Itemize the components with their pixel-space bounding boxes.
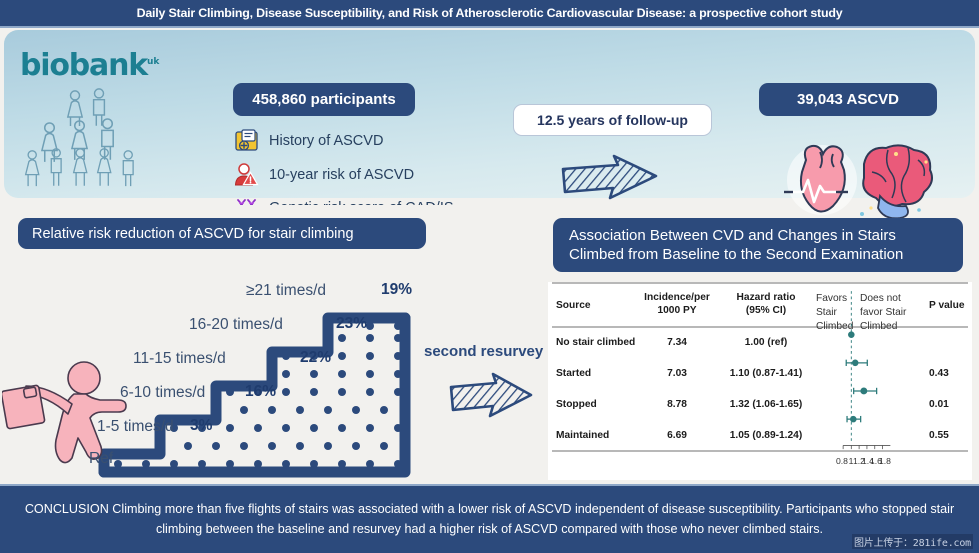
forest-plot-table: Source Incidence/per 1000 PY Hazard rati… xyxy=(548,282,972,480)
col-header-incidence: Incidence/per 1000 PY xyxy=(640,292,714,318)
forest-axis xyxy=(843,445,890,449)
forest-plot xyxy=(834,282,934,460)
watermark: 图片上传于：281ife.com xyxy=(852,534,973,549)
bullet-ten-year-risk: 10-year risk of ASCVD xyxy=(233,161,414,188)
poster-title-bar: Daily Stair Climbing, Disease Susceptibi… xyxy=(0,0,979,28)
cell-hazard: 1.32 (1.06-1.65) xyxy=(724,399,808,410)
cell-incidence: 8.78 xyxy=(640,399,714,410)
infographic-poster: Daily Stair Climbing, Disease Susceptibi… xyxy=(0,0,979,553)
cell-hazard: 1.05 (0.89-1.24) xyxy=(724,430,808,441)
stair-label-ref: Ref xyxy=(89,450,113,468)
stair-label-16-20: 16-20 times/d xyxy=(189,316,283,334)
axis-tick-5: 1.8 xyxy=(877,456,893,466)
cell-pvalue: 0.43 xyxy=(929,368,969,379)
second-resurvey-label: second resurvey xyxy=(424,343,543,360)
page-title: Daily Stair Climbing, Disease Susceptibi… xyxy=(137,6,843,20)
cell-source: Maintained xyxy=(556,430,609,441)
stair-label-11-15: 11-15 times/d xyxy=(133,350,226,368)
folder-plus-icon xyxy=(233,127,260,154)
col-header-source: Source xyxy=(556,300,636,313)
forest-point-no-stair-climbed xyxy=(848,331,855,338)
stair-label-21: ≥21 times/d xyxy=(246,282,326,300)
forest-row-maintained xyxy=(847,416,861,423)
people-crowd-icon xyxy=(18,88,168,188)
cell-source: No stair climbed xyxy=(556,337,635,348)
forest-row-stopped xyxy=(854,388,877,395)
col-header-p-value: P value xyxy=(929,300,969,313)
cohort-overview-panel: biobankuk xyxy=(4,30,975,198)
ascvd-count-badge: 39,043 ASCVD xyxy=(759,83,937,116)
runner-with-briefcase-icon xyxy=(2,360,142,472)
person-warning-icon xyxy=(233,161,260,188)
stair-pct-11-15: 22% xyxy=(300,349,331,367)
stair-label-6-10: 6-10 times/d xyxy=(120,384,205,402)
cell-incidence: 6.69 xyxy=(640,430,714,441)
participants-badge: 458,860 participants xyxy=(233,83,415,116)
arrow-right-icon xyxy=(560,154,660,206)
stair-pct-16-20: 23% xyxy=(336,315,367,333)
bullet-label: 10-year risk of ASCVD xyxy=(269,167,414,183)
cell-hazard: 1.10 (0.87-1.41) xyxy=(724,368,808,379)
bullet-history-of-ascvd: History of ASCVD xyxy=(233,127,383,154)
stair-pct-21: 19% xyxy=(381,281,412,299)
left-panel-heading: Relative risk reduction of ASCVD for sta… xyxy=(18,218,426,249)
stair-pct-6-10: 16% xyxy=(245,383,276,401)
biobank-logo: biobankuk xyxy=(20,48,159,83)
conclusion-banner: CONCLUSION Climbing more than five fligh… xyxy=(0,484,979,553)
cell-hazard: 1.00 (ref) xyxy=(724,337,808,348)
cell-incidence: 7.03 xyxy=(640,368,714,379)
conclusion-text: CONCLUSION Climbing more than five fligh… xyxy=(22,500,957,538)
col-header-hazard-ratio: Hazard ratio (95% CI) xyxy=(724,292,808,318)
stair-label-1-5: 1-5 times/d xyxy=(97,418,174,436)
cell-source: Stopped xyxy=(556,399,597,410)
biobank-logo-sup: uk xyxy=(147,57,159,67)
bullet-label: History of ASCVD xyxy=(269,133,383,149)
cell-pvalue: 0.55 xyxy=(929,430,969,441)
forest-row-started xyxy=(846,360,867,367)
cell-incidence: 7.34 xyxy=(640,337,714,348)
arrow-right-icon-2 xyxy=(448,372,534,424)
heart-and-brain-icon xyxy=(776,134,942,224)
biobank-logo-text: biobank xyxy=(20,48,147,83)
cell-pvalue: 0.01 xyxy=(929,399,969,410)
followup-badge: 12.5 years of follow-up xyxy=(513,104,712,136)
cell-source: Started xyxy=(556,368,591,379)
stair-pct-1-5: 3% xyxy=(190,417,212,435)
right-panel-heading: Association Between CVD and Changes in S… xyxy=(553,218,963,272)
